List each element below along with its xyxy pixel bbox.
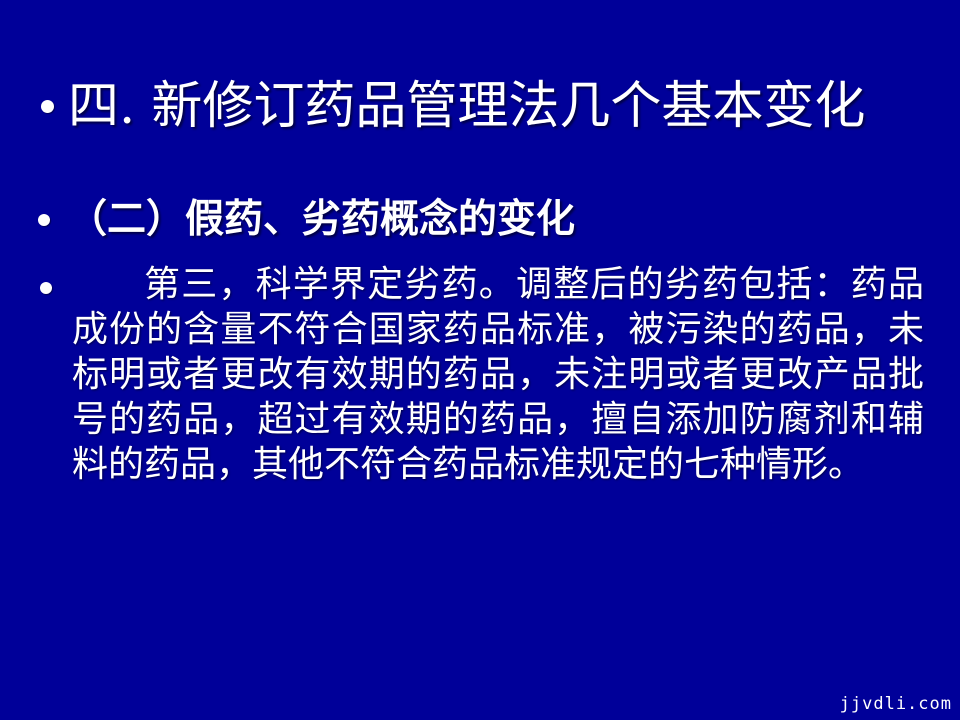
slide-subtitle: （二）假药、劣药概念的变化	[68, 192, 948, 246]
body-bullet-row: 第三，科学界定劣药。调整后的劣药包括：药品成份的含量不符合国家药品标准，被污染的…	[0, 262, 960, 552]
slide-canvas: 四. 新修订药品管理法几个基本变化 （二）假药、劣药概念的变化 第三，科学界定劣…	[0, 0, 960, 720]
bullet-dot-icon	[40, 282, 52, 294]
title-bullet-row: 四. 新修订药品管理法几个基本变化	[0, 74, 960, 144]
watermark: jjvdli.com	[840, 694, 952, 714]
bullet-dot-icon	[41, 100, 54, 113]
bullet-dot-icon	[38, 214, 50, 226]
slide-title: 四. 新修订药品管理法几个基本变化	[68, 74, 948, 140]
subtitle-bullet-row: （二）假药、劣药概念的变化	[0, 192, 960, 250]
slide-body-paragraph: 第三，科学界定劣药。调整后的劣药包括：药品成份的含量不符合国家药品标准，被污染的…	[72, 262, 924, 487]
